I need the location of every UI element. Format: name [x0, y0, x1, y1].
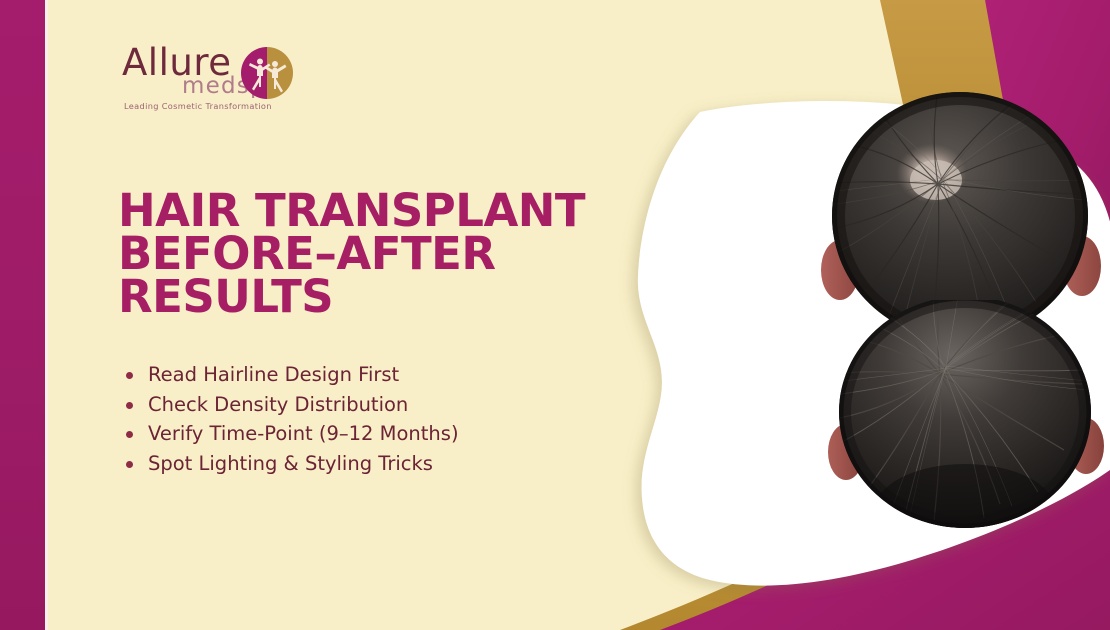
left-accent-bar [0, 0, 45, 630]
list-item: Check Density Distribution [118, 390, 618, 420]
tips-list: Read Hairline Design First Check Density… [118, 360, 618, 478]
headline-line-1: Hair Transplant [118, 189, 598, 232]
logo[interactable]: Allure medspa Leading Cosmetic Transform… [122, 44, 302, 116]
headline-line-3: Results [118, 275, 598, 318]
after-photo-illustration [820, 300, 1110, 530]
logo-tagline: Leading Cosmetic Transformation [124, 101, 272, 111]
left-accent-bar-edge [45, 0, 48, 630]
list-item: Read Hairline Design First [118, 360, 618, 390]
promo-banner: Allure medspa Leading Cosmetic Transform… [0, 0, 1110, 630]
list-item: Spot Lighting & Styling Tricks [118, 449, 618, 479]
after-photo [820, 300, 1110, 530]
two-dancing-figures-circle-icon [240, 46, 294, 100]
list-item: Verify Time-Point (9–12 Months) [118, 419, 618, 449]
page-title: Hair Transplant Before–After Results [118, 189, 598, 319]
headline-line-2: Before–After [118, 232, 598, 275]
